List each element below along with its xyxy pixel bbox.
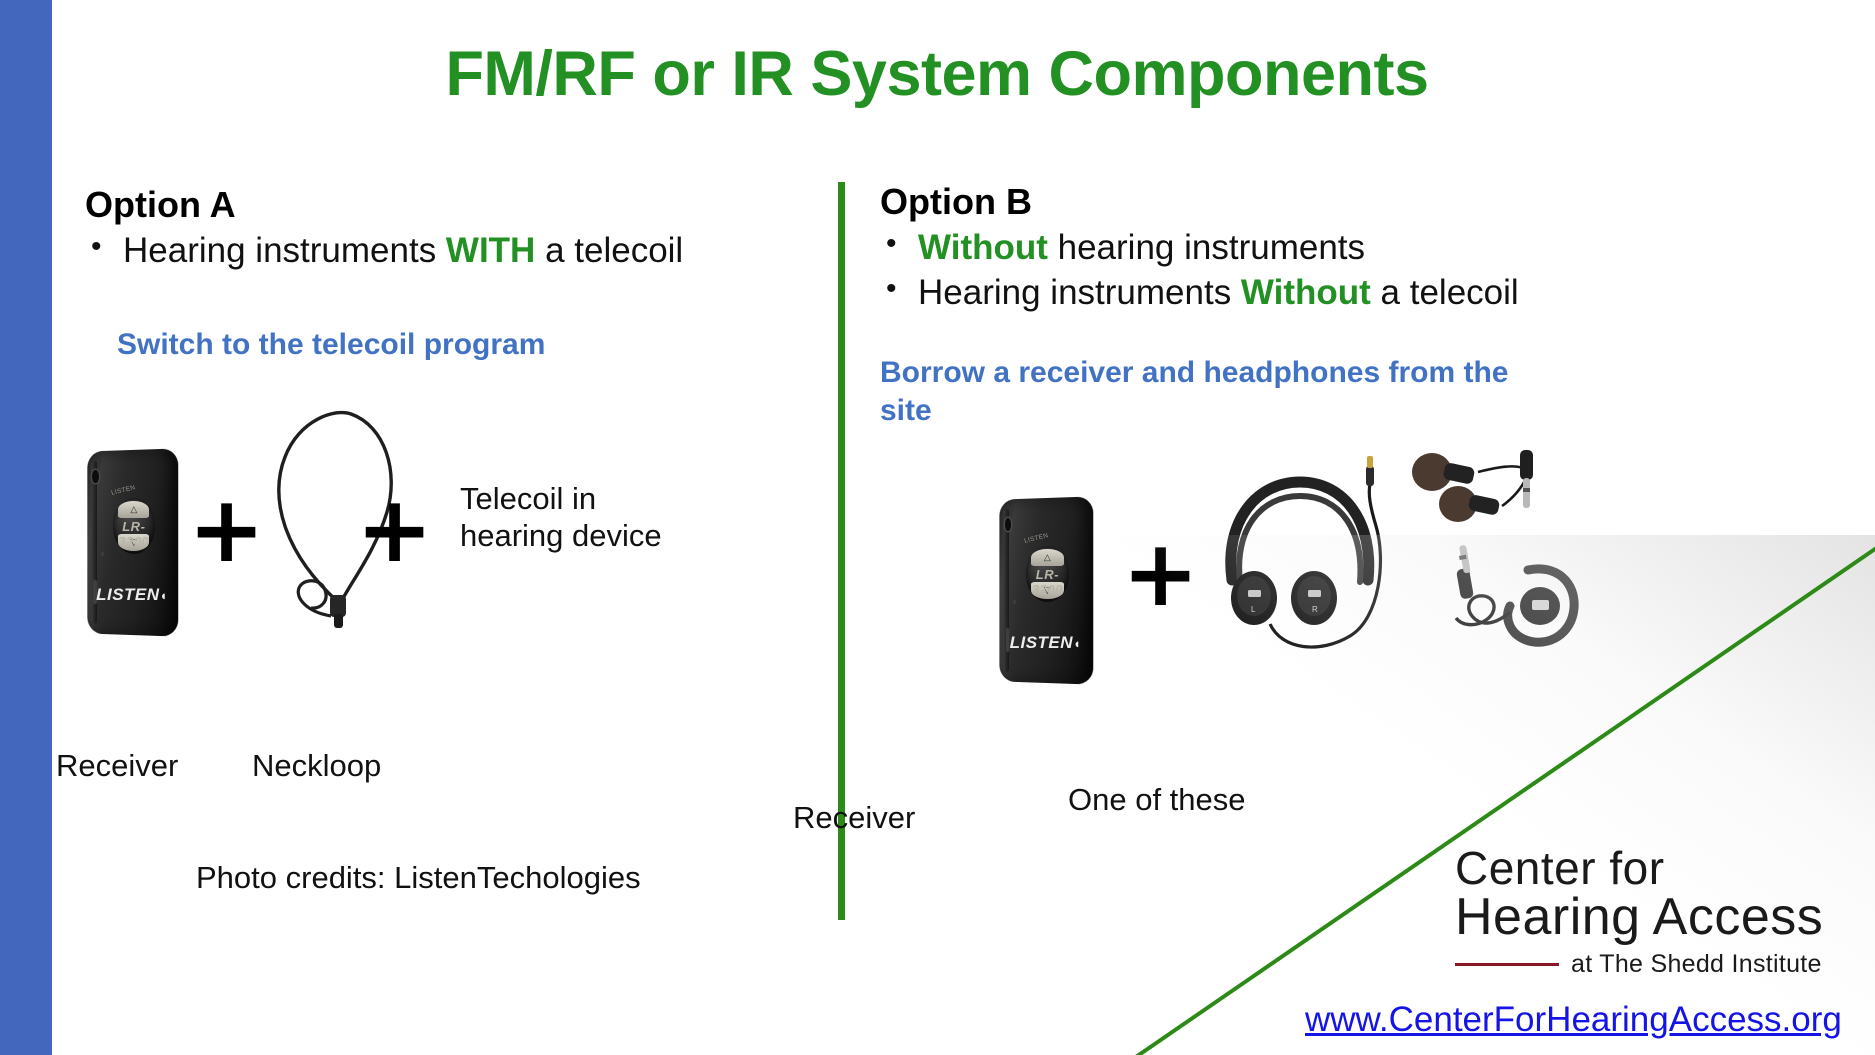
receiver-indicator-dot — [101, 552, 104, 556]
option-a-receiver-label: Receiver — [56, 748, 178, 784]
option-b-instruction: Borrow a receiver and headphones from th… — [880, 354, 1670, 431]
bullet-post-text: a telecoil — [1371, 273, 1519, 312]
receiver-up-button[interactable]: △ — [118, 501, 149, 518]
slide-canvas: FM/RF or IR System Components Option A H… — [0, 0, 1875, 1055]
option-a-device-row: LISTEN △ ▽ LR-3200 LISTEN◖ + + Telecoil … — [78, 432, 778, 662]
receiver-brand-text: LISTEN — [1010, 633, 1073, 652]
bullet-pre-text: Hearing instruments — [123, 231, 446, 270]
option-a-heading: Option A — [85, 185, 785, 225]
logo-line-3: at The Shedd Institute — [1571, 950, 1822, 979]
telecoil-in-hearing-device-label: Telecoil in hearing device — [460, 480, 662, 554]
telecoil-label-line2: hearing device — [460, 517, 662, 554]
receiver-dial: △ ▽ LR-3200 — [113, 498, 155, 554]
bullet-highlight: Without — [1241, 273, 1371, 312]
option-b-column: Option B Without hearing instruments Hea… — [880, 182, 1780, 431]
telecoil-label-line1: Telecoil in — [460, 480, 662, 517]
receiver-device-icon: LISTEN △ ▽ LR-3200 LISTEN◖ — [998, 498, 1093, 683]
bullet-pre-text: Hearing instruments — [918, 273, 1241, 312]
foam-earbuds-icon — [1412, 450, 1533, 522]
logo-line-1: Center for — [1455, 845, 1875, 891]
option-b-headphones-label: One of these — [1068, 782, 1246, 818]
ear-hook-earphone-icon — [1456, 545, 1574, 642]
logo-tagline-row: at The Shedd Institute — [1455, 950, 1875, 979]
receiver-brand-text: LISTEN — [96, 585, 159, 604]
left-accent-bar — [0, 0, 52, 1055]
over-ear-headphones-icon: L R — [1231, 456, 1381, 647]
bullet-highlight: Without — [918, 228, 1048, 267]
option-a-instruction: Switch to the telecoil program — [117, 326, 785, 364]
photo-credit-text: Photo credits: ListenTechologies — [196, 860, 641, 896]
option-b-device-row: LISTEN △ ▽ LR-3200 LISTEN◖ + — [960, 480, 1820, 740]
option-b-instruction-line1: Borrow a receiver and headphones from th… — [880, 354, 1670, 392]
bullet-post-text: a telecoil — [535, 231, 683, 270]
headphones-group-svg: L R — [1210, 430, 1600, 690]
headphones-group-icon: L R — [1210, 430, 1600, 690]
bullet-post-text: hearing instruments — [1048, 228, 1365, 267]
listen-wave-icon: ◖ — [1073, 636, 1081, 651]
organization-logo: Center for Hearing Access at The Shedd I… — [1455, 845, 1875, 979]
option-a-neckloop-label: Neckloop — [252, 748, 381, 784]
receiver-model-label: LR-3200 — [113, 519, 155, 549]
listen-wave-icon: ◖ — [160, 588, 168, 603]
logo-rule — [1455, 963, 1559, 966]
svg-text:L: L — [1251, 605, 1256, 614]
option-b-instruction-line2: site — [880, 392, 1670, 430]
option-a-column: Option A Hearing instruments WITH a tele… — [85, 185, 785, 365]
logo-line-2: Hearing Access — [1455, 891, 1875, 944]
receiver-jack-port — [92, 470, 98, 483]
svg-text:R: R — [1312, 605, 1318, 614]
plus-symbol-3: + — [1122, 528, 1199, 620]
bullet-highlight: WITH — [446, 231, 535, 270]
option-b-receiver-label: Receiver — [793, 800, 915, 836]
receiver-brand-label: LISTEN◖ — [86, 585, 178, 605]
option-b-bullet-list: Without hearing instruments Hearing inst… — [880, 226, 1780, 316]
option-b-heading: Option B — [880, 182, 1780, 222]
option-a-bullet-list: Hearing instruments WITH a telecoil — [85, 229, 785, 274]
receiver-device-icon: LISTEN △ ▽ LR-3200 LISTEN◖ — [86, 450, 178, 635]
list-item: Without hearing instruments — [880, 226, 1780, 271]
list-item: Hearing instruments WITH a telecoil — [85, 229, 785, 274]
list-item: Hearing instruments Without a telecoil — [880, 271, 1780, 316]
page-title: FM/RF or IR System Components — [52, 38, 1822, 110]
plus-symbol-1: + — [188, 484, 265, 576]
receiver-dial: △ ▽ LR-3200 — [1026, 546, 1070, 602]
website-url-link[interactable]: www.CenterForHearingAccess.org — [1305, 1000, 1842, 1040]
receiver-up-button[interactable]: △ — [1031, 549, 1063, 566]
plus-symbol-2: + — [356, 484, 433, 576]
receiver-model-label: LR-3200 — [1026, 567, 1070, 597]
receiver-brand-label: LISTEN◖ — [998, 633, 1093, 653]
